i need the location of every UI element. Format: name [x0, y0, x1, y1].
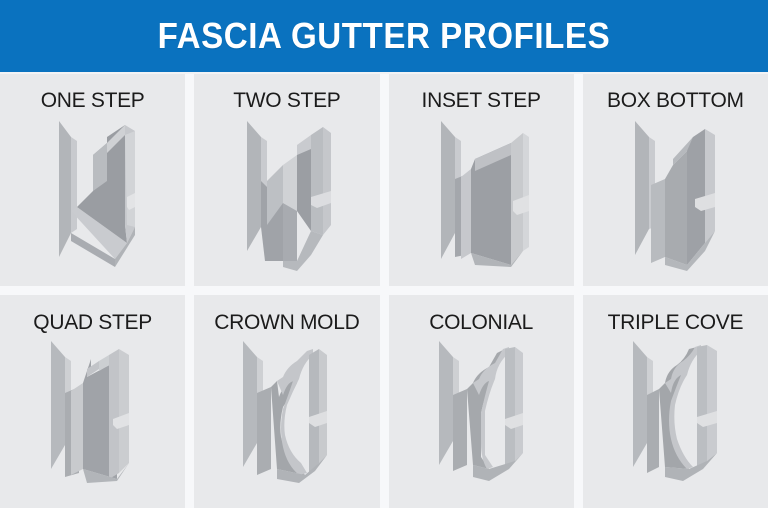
header-banner: FASCIA GUTTER PROFILES	[0, 0, 768, 72]
profile-label-colonial: COLONIAL	[429, 312, 533, 333]
profile-card-box-bottom[interactable]: BOX BOTTOM	[583, 74, 768, 286]
profile-art-crown-mold	[194, 333, 379, 508]
quad-step-icon	[31, 337, 155, 487]
profile-label-two-step: TWO STEP	[233, 90, 340, 111]
profile-card-quad-step[interactable]: QUAD STEP	[0, 295, 185, 508]
profile-label-crown-mold: CROWN MOLD	[214, 312, 359, 333]
one-step-icon	[31, 115, 155, 271]
profile-art-one-step	[0, 111, 185, 286]
fascia-gutter-profiles-page: FASCIA GUTTER PROFILES ONE STEP	[0, 0, 768, 508]
profile-card-crown-mold[interactable]: CROWN MOLD	[194, 295, 379, 508]
inset-step-icon	[419, 115, 543, 271]
profile-label-one-step: ONE STEP	[41, 90, 145, 111]
profile-card-inset-step[interactable]: INSET STEP	[389, 74, 574, 286]
two-step-icon	[225, 115, 349, 271]
profile-label-inset-step: INSET STEP	[422, 90, 541, 111]
crown-mold-icon	[225, 337, 349, 487]
profile-art-colonial	[389, 333, 574, 508]
profile-art-inset-step	[389, 111, 574, 286]
profile-art-two-step	[194, 111, 379, 286]
profile-art-quad-step	[0, 333, 185, 508]
profile-art-box-bottom	[583, 111, 768, 286]
profile-card-triple-cove[interactable]: TRIPLE COVE	[583, 295, 768, 508]
box-bottom-icon	[613, 115, 737, 271]
triple-cove-icon	[613, 337, 737, 487]
colonial-icon	[419, 337, 543, 487]
profile-label-quad-step: QUAD STEP	[33, 312, 152, 333]
profile-label-triple-cove: TRIPLE COVE	[608, 312, 744, 333]
profile-art-triple-cove	[583, 333, 768, 508]
profile-card-one-step[interactable]: ONE STEP	[0, 74, 185, 286]
profile-label-box-bottom: BOX BOTTOM	[607, 90, 744, 111]
page-title: FASCIA GUTTER PROFILES	[158, 15, 611, 57]
profiles-grid: ONE STEP TWO STEP	[0, 74, 768, 508]
profile-card-two-step[interactable]: TWO STEP	[194, 74, 379, 286]
profile-card-colonial[interactable]: COLONIAL	[389, 295, 574, 508]
